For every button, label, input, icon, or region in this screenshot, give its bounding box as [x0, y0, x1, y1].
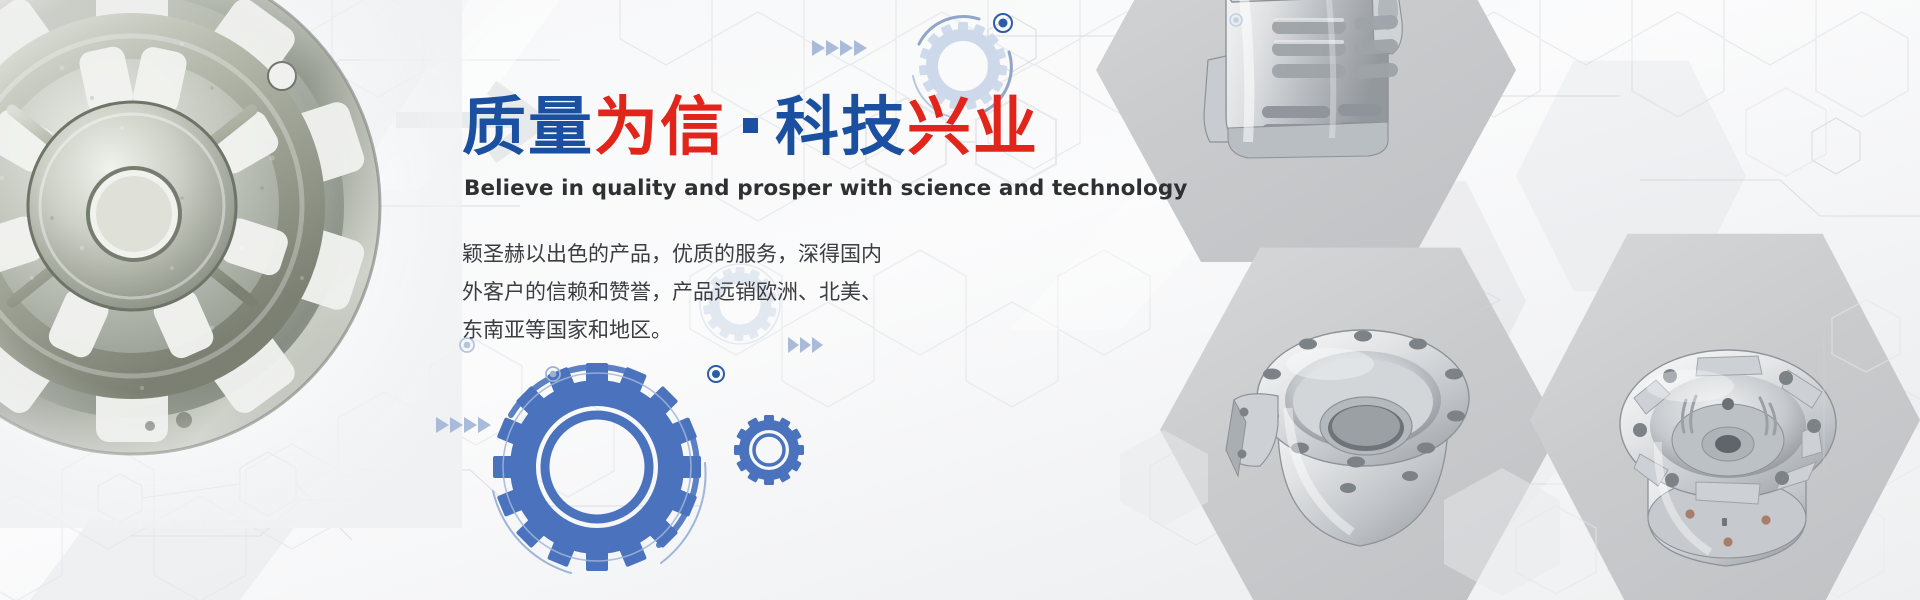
- headline-segment-quality: 质量: [462, 91, 594, 165]
- chevron-right-icon-group-top: [812, 38, 868, 58]
- page-subtitle: Believe in quality and prosper with scie…: [464, 176, 1082, 201]
- chevron-right-icon-group-left: [436, 415, 492, 435]
- node-dot-icon-3: [544, 365, 562, 383]
- gear-icon-large: [482, 352, 712, 582]
- headline-segment-prosperity: 兴业: [907, 91, 1039, 165]
- gear-icon-small: [729, 410, 809, 490]
- node-dot-icon-2: [706, 364, 726, 384]
- headline-segment-trust: 为信: [594, 91, 726, 165]
- page-title: 质量为信科技兴业: [462, 96, 1082, 160]
- headline-segment-technology: 科技: [775, 91, 907, 165]
- node-dot-icon-1: [992, 12, 1014, 34]
- banner-body-text: 颖圣赫以出色的产品，优质的服务，深得国内外客户的信赖和赞誉，产品远销欧洲、北美、…: [462, 235, 892, 350]
- hero-banner: 质量为信科技兴业 Believe in quality and prosper …: [0, 0, 1920, 600]
- hero-metal-wheel-casting: [0, 0, 402, 468]
- metal-wheel-casting-icon: [0, 0, 402, 468]
- banner-text-block: 质量为信科技兴业 Believe in quality and prosper …: [462, 96, 1082, 350]
- headline-separator-dot: [743, 118, 758, 133]
- node-dot-icon-5: [1228, 12, 1244, 28]
